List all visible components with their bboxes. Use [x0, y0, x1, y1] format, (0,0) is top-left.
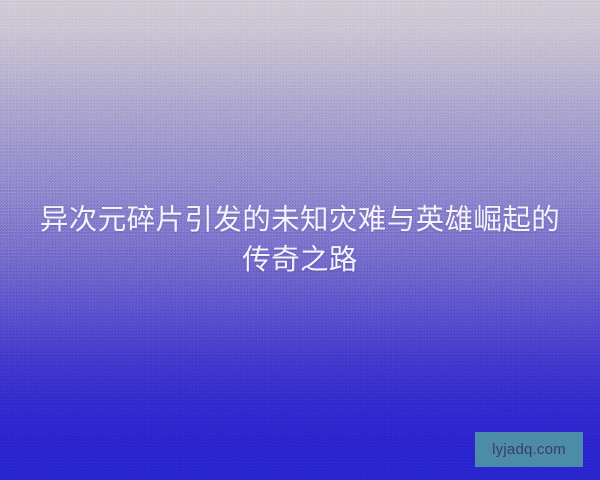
poster-title: 异次元碎片引发的未知灾难与英雄崛起的 传奇之路: [0, 200, 600, 280]
title-line-1: 异次元碎片引发的未知灾难与英雄崛起的: [22, 200, 578, 240]
watermark-badge[interactable]: lyjadq.com: [475, 432, 583, 467]
poster-canvas: 异次元碎片引发的未知灾难与英雄崛起的 传奇之路 lyjadq.com: [0, 0, 600, 480]
title-line-2: 传奇之路: [22, 240, 578, 280]
watermark-label: lyjadq.com: [492, 442, 566, 457]
